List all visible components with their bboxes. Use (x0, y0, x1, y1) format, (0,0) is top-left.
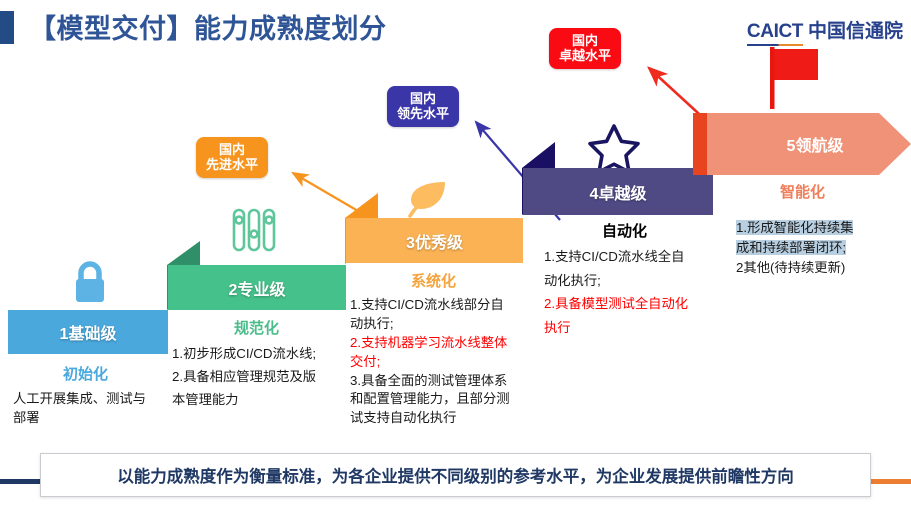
callout-line-2: 卓越水平 (559, 48, 611, 63)
desc-line: 试支持自动化执行 (350, 409, 535, 428)
desc-line: 部署 (13, 409, 178, 428)
desc-line: 执行 (544, 316, 724, 340)
step-subtitle-level-5: 智能化 (780, 181, 825, 202)
callout-domestic-leading[interactable]: 国内 领先水平 (387, 86, 459, 127)
desc-line: 本管理能力 (172, 389, 354, 412)
step-subtitle-level-1: 初始化 (63, 363, 108, 384)
desc-line: 2.具备相应管理规范及版 (172, 366, 354, 389)
step-description-level-1: 人工开展集成、测试与 部署 (13, 390, 178, 428)
callout-domestic-excellent[interactable]: 国内 卓越水平 (549, 28, 621, 69)
desc-line: 1.初步形成CI/CD流水线; (172, 343, 354, 366)
desc-line: 1.形成智能化持续集 (736, 218, 896, 238)
lock-icon (68, 258, 112, 310)
callout-line-1: 国内 (219, 142, 245, 157)
desc-line: 动执行; (350, 315, 535, 334)
desc-line: 动化执行; (544, 269, 724, 293)
step-level-5[interactable]: 5领航级 (693, 113, 911, 175)
step-description-level-4: 1.支持CI/CD流水线全自 动化执行; 2.具备模型测试全自动化 执行 (544, 245, 724, 340)
callout-line-2: 领先水平 (397, 106, 449, 121)
step-top-face: 2专业级 (168, 265, 346, 310)
desc-line: 3.具备全面的测试管理体系 (350, 372, 535, 391)
step-label: 3优秀级 (406, 229, 463, 253)
step-label: 5领航级 (787, 136, 845, 155)
step-subtitle-level-2: 规范化 (234, 317, 279, 338)
step-top-face: 3优秀级 (346, 218, 523, 263)
step-top-face: 4卓越级 (523, 168, 713, 215)
step-description-level-2: 1.初步形成CI/CD流水线; 2.具备相应管理规范及版 本管理能力 (172, 343, 354, 412)
summary-banner: 以能力成熟度作为衡量标准，为各企业提供不同级别的参考水平，为企业发展提供前瞻性方… (40, 453, 871, 497)
step-level-1[interactable]: 1基础级 (8, 310, 168, 354)
step-level-4[interactable]: 4卓越级 (523, 168, 713, 215)
step-level-3[interactable]: 3优秀级 (346, 218, 523, 263)
leaf-icon (404, 176, 452, 222)
banner-left-rule (0, 479, 40, 484)
step-label: 2专业级 (229, 276, 286, 300)
callout-domestic-advanced[interactable]: 国内 先进水平 (196, 137, 268, 178)
desc-line: 成和持续部署闭环; (736, 238, 896, 258)
desc-line: 2其他(待持续更新) (736, 258, 896, 278)
desc-line: 1.支持CI/CD流水线部分自 (350, 296, 535, 315)
step-description-level-5: 1.形成智能化持续集 成和持续部署闭环; 2其他(待持续更新) (736, 218, 896, 279)
callout-line-1: 国内 (572, 33, 598, 48)
callout-line-1: 国内 (410, 91, 436, 106)
step-subtitle-level-4: 自动化 (602, 220, 647, 241)
desc-line: 2.支持机器学习流水线整体 (350, 334, 535, 353)
sliders-icon (228, 206, 280, 256)
step-description-level-3: 1.支持CI/CD流水线部分自 动执行; 2.支持机器学习流水线整体 交付; 3… (350, 296, 535, 428)
step-label: 1基础级 (60, 320, 117, 344)
step-label: 4卓越级 (590, 180, 647, 204)
banner-right-rule (871, 479, 911, 484)
step-subtitle-level-3: 系统化 (411, 270, 456, 291)
desc-line: 人工开展集成、测试与 (13, 390, 178, 409)
step-top-face: 1基础级 (8, 310, 168, 354)
step-level-2[interactable]: 2专业级 (168, 265, 346, 310)
desc-line: 2.具备模型测试全自动化 (544, 292, 724, 316)
desc-line: 和配置管理能力，且部分测 (350, 390, 535, 409)
desc-line: 1.支持CI/CD流水线全自 (544, 245, 724, 269)
summary-banner-text: 以能力成熟度作为衡量标准，为各企业提供不同级别的参考水平，为企业发展提供前瞻性方… (117, 463, 794, 487)
desc-line: 交付; (350, 353, 535, 372)
callout-line-2: 先进水平 (206, 157, 258, 172)
